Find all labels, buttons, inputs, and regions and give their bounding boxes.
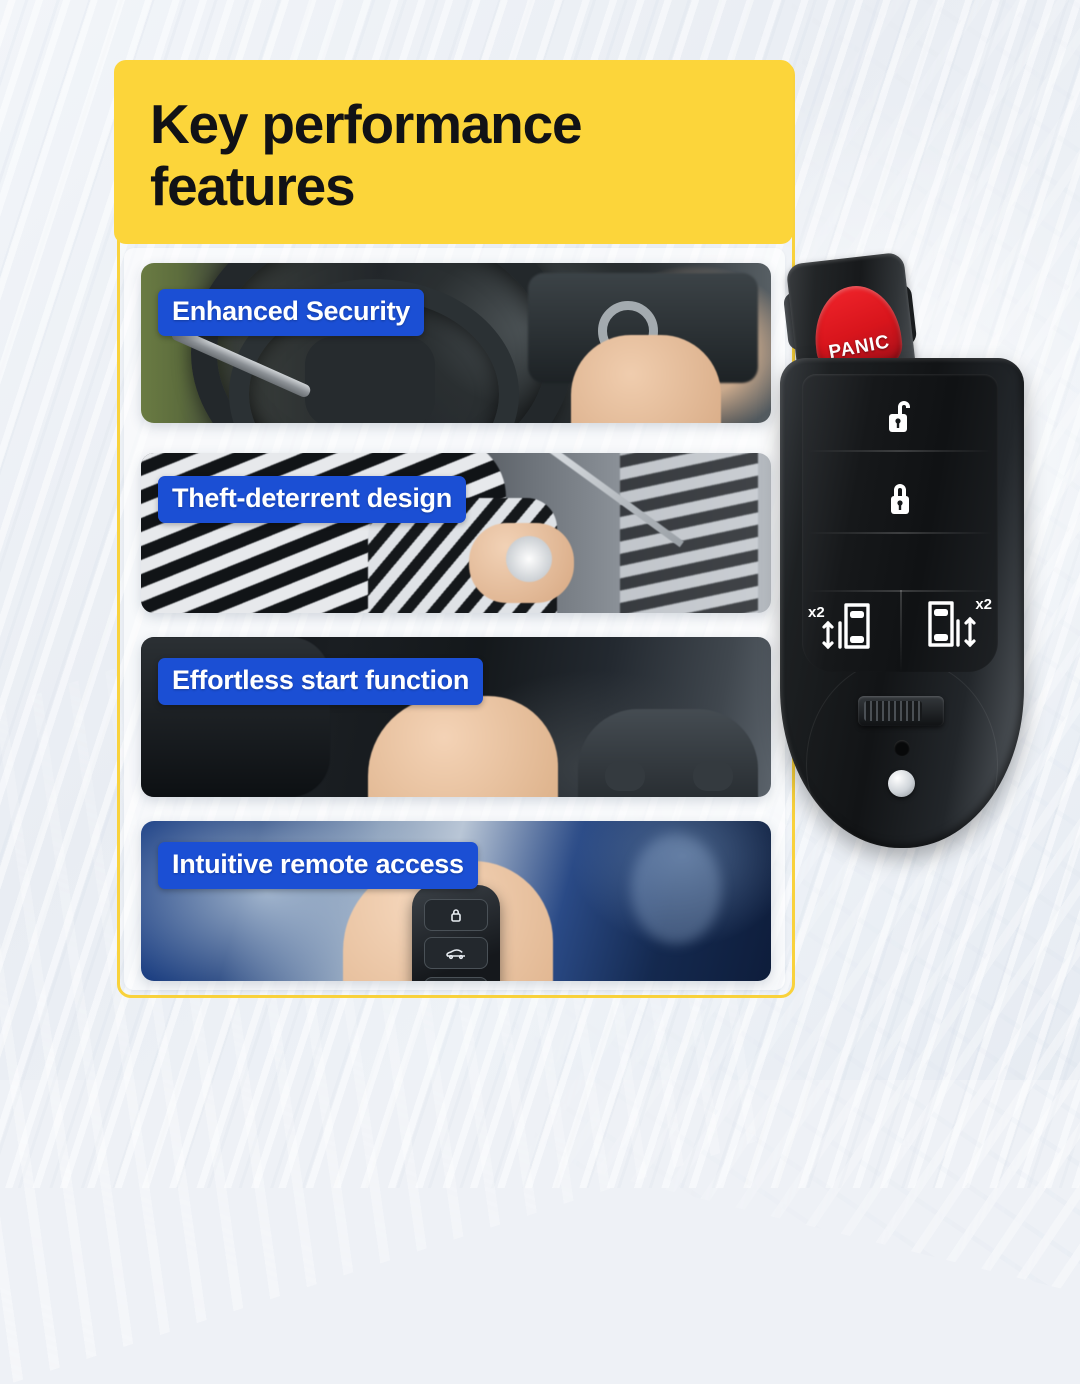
key-fob-body: x2 x2: [780, 358, 1024, 848]
pad-divider: [808, 532, 992, 534]
pad-divider: [808, 450, 992, 452]
feature-label-2: Theft-deterrent design: [158, 476, 466, 523]
feature-image-steering-wheel: [141, 263, 771, 423]
key-fob-button-pad: x2 x2: [802, 374, 998, 672]
pad-divider-vertical: [900, 590, 902, 672]
feature-card-enhanced-security[interactable]: [141, 263, 771, 423]
unlock-button[interactable]: [885, 396, 915, 441]
release-slider-ribs: [864, 701, 922, 721]
key-ring-hole: [894, 740, 910, 756]
key-fob-remote: PANIC: [772, 258, 1032, 848]
closed-padlock-icon: [885, 478, 915, 518]
page-title: Key performance features: [150, 94, 757, 217]
header-banner: Key performance features: [114, 60, 793, 244]
feature-label-1: Enhanced Security: [158, 289, 424, 336]
sliding-door-icon: [816, 597, 886, 659]
sliding-door-icon: [914, 597, 984, 659]
smart-key-shape: [412, 885, 500, 981]
feature-label-4: Intuitive remote access: [158, 842, 478, 889]
smart-key-car-icon: [424, 937, 488, 969]
open-padlock-icon: [885, 396, 915, 436]
sliding-door-right-button[interactable]: x2: [904, 590, 994, 666]
smart-key-lock-icon: [424, 899, 488, 931]
release-slider[interactable]: [858, 696, 944, 726]
key-fob-body-ring: [806, 658, 998, 870]
chrome-emblem: [888, 770, 915, 797]
sliding-door-left-button[interactable]: x2: [806, 590, 896, 666]
smart-key-trunk-icon: [424, 977, 488, 981]
lock-button[interactable]: [885, 478, 915, 523]
feature-label-3: Effortless start function: [158, 658, 483, 705]
